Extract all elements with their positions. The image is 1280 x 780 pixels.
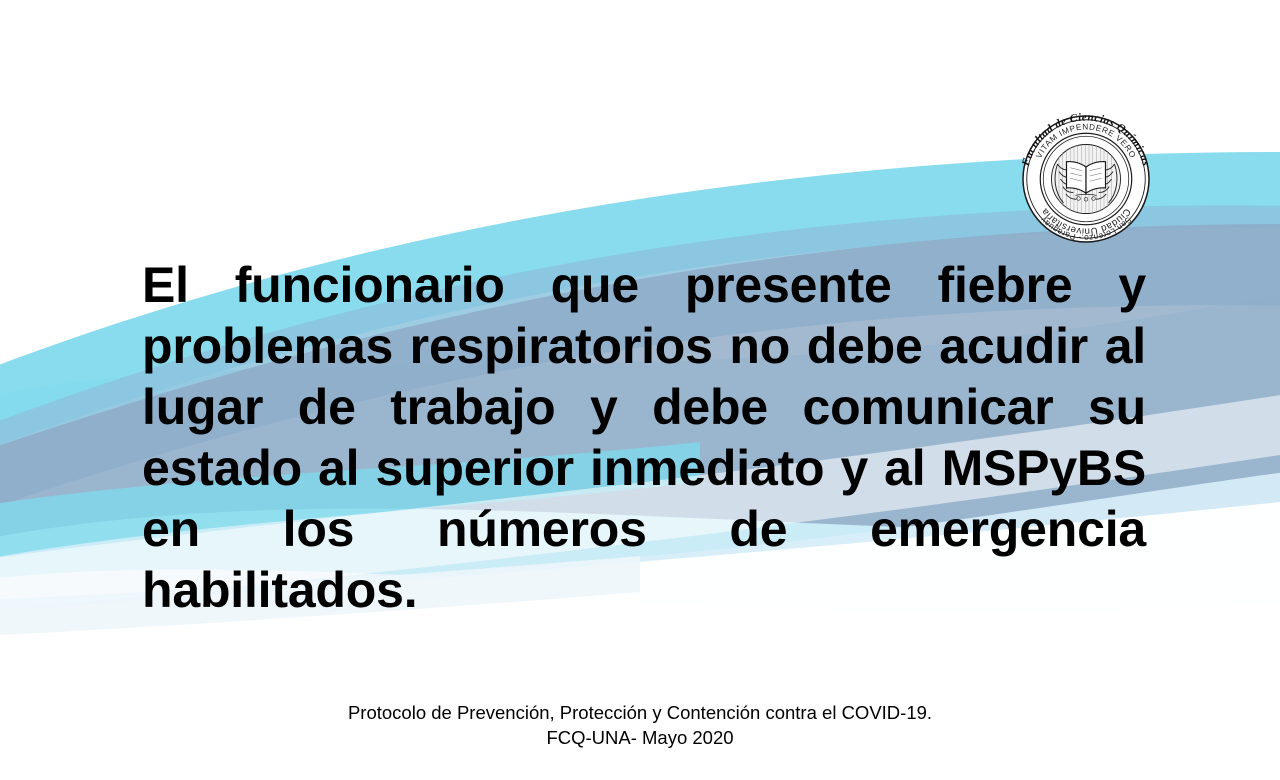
slide-canvas: Facultad de Ciencias Químicas VITAM IMPE… — [0, 0, 1280, 780]
body-paragraph: El funcionario que presente fiebre y pro… — [142, 255, 1146, 682]
university-seal-logo: Facultad de Ciencias Químicas VITAM IMPE… — [1011, 104, 1161, 254]
slide-body-text: El funcionario que presente fiebre y pro… — [142, 255, 1146, 682]
slide-footer: Protocolo de Prevención, Protección y Co… — [0, 700, 1280, 750]
footer-line-1: Protocolo de Prevención, Protección y Co… — [0, 700, 1280, 725]
footer-line-2: FCQ-UNA- Mayo 2020 — [0, 725, 1280, 750]
